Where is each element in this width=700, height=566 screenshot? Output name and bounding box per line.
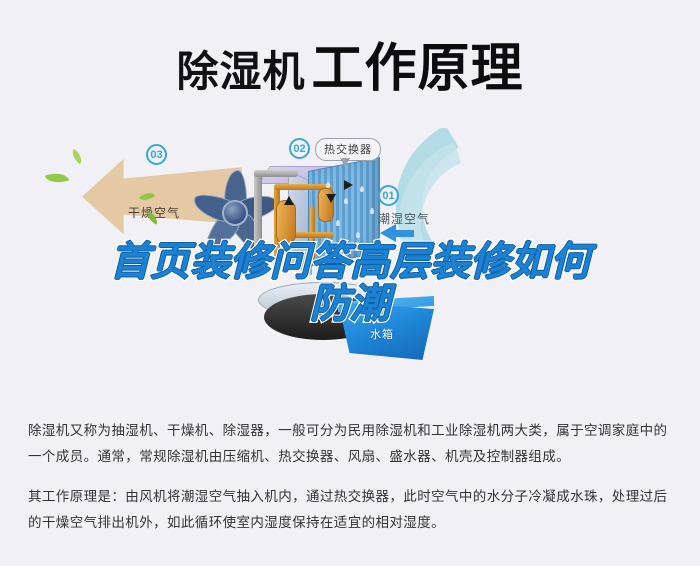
badge-01-diagram: 01 xyxy=(378,185,399,206)
water-droplet xyxy=(336,220,340,226)
fan-hub xyxy=(222,200,248,226)
water-droplet xyxy=(360,186,364,192)
title-part-two: 工作原理 xyxy=(312,40,524,98)
page-title: 除湿机工作原理 xyxy=(0,26,700,101)
compressor xyxy=(276,200,296,244)
water-droplet xyxy=(326,182,330,188)
water-droplet xyxy=(344,198,348,204)
leaf-icon xyxy=(45,169,70,187)
water-droplet xyxy=(356,232,360,238)
air-outlet-bar xyxy=(394,230,414,237)
badge-02-diagram: 02 xyxy=(289,138,310,159)
leaf-icon xyxy=(69,149,86,165)
title-part-one: 除湿机 xyxy=(176,48,305,95)
pipe-segment xyxy=(254,170,262,274)
dehumidifier-unit: 水箱 xyxy=(252,136,432,386)
flow-arrow-up-icon xyxy=(284,196,294,205)
paragraph-2: 其工作原理是：由风机将潮湿空气抽入机内，通过热交换器，此时空气中的水分子冷凝成水… xyxy=(28,484,676,536)
water-droplet xyxy=(370,208,374,214)
callout-tail xyxy=(340,158,350,167)
pipe-segment xyxy=(254,170,298,177)
humid-air-label: 潮湿空气 xyxy=(378,210,430,227)
water-tank-label: 水箱 xyxy=(370,326,394,342)
paragraph-1: 除湿机又称为抽湿机、干燥机、除湿器，一般可分为民用除湿机和工业除湿机两大类，属于… xyxy=(28,418,676,470)
description-section: 除湿机又称为抽湿机、干燥机、除湿器，一般可分为民用除湿机和工业除湿机两大类，属于… xyxy=(28,418,676,536)
dehumidifier-diagram: 干燥空气 xyxy=(0,128,700,400)
badge-03-diagram: 03 xyxy=(146,144,167,165)
infographic-page: 除湿机工作原理 干燥空气 xyxy=(0,0,700,566)
flow-arrow-down-icon xyxy=(326,194,336,203)
flow-arrow-left-icon xyxy=(344,180,353,190)
